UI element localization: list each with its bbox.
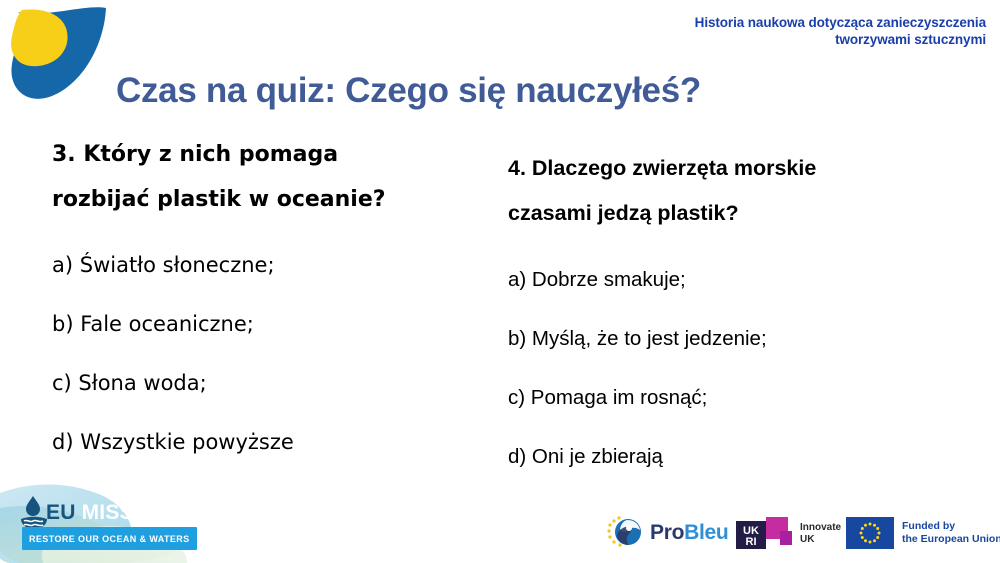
innovate-uk-line2: UK <box>800 534 841 546</box>
innovate-uk-text: Innovate UK <box>800 522 841 546</box>
page-title: Czas na quiz: Czego się nauczyłeś? <box>116 71 701 111</box>
list-item[interactable]: b) Fale oceaniczne; <box>52 295 472 354</box>
list-item[interactable]: d) Oni je zbierają <box>508 427 938 486</box>
innovate-uk-line1: Innovate <box>800 522 841 534</box>
eu-funding-line2: the European Union <box>902 533 1000 546</box>
wave-swoosh-logo <box>6 2 110 106</box>
question-4-options: a) Dobrze smakuje; b) Myślą, że to jest … <box>508 250 938 486</box>
question-column-right: 4. Dlaczego zwierzęta morskie czasami je… <box>508 146 938 486</box>
header-kicker-line1: Historia naukowa dotycząca zanieczyszcze… <box>566 14 986 31</box>
question-column-left: 3. Który z nich pomaga rozbijać plastik … <box>52 132 472 472</box>
question-4-line1: 4. Dlaczego zwierzęta morskie <box>508 146 938 191</box>
question-3-options: a) Światło słoneczne; b) Fale oceaniczne… <box>52 236 472 472</box>
list-item[interactable]: c) Słona woda; <box>52 354 472 413</box>
header-kicker-line2: tworzywami sztucznymi <box>566 31 986 48</box>
question-3-line2: rozbijać plastik w oceanie? <box>52 177 472 222</box>
ukri-innovate-uk-logo: UK RI Innovate UK <box>736 517 846 553</box>
probleu-wordmark: ProBleu <box>650 521 728 545</box>
eu-missions-tagline-bar: RESTORE OUR OCEAN & WATERS <box>22 527 197 550</box>
eu-funding-text: Funded by the European Union <box>902 520 1000 546</box>
probleu-swirl-icon <box>606 515 646 551</box>
eu-missions-eu-text: EU <box>46 501 76 524</box>
list-item[interactable]: a) Światło słoneczne; <box>52 236 472 295</box>
eu-missions-wordmark: EU MISSIONS <box>46 501 186 525</box>
slide-canvas: Historia naukowa dotycząca zanieczyszcze… <box>0 0 1000 563</box>
eu-missions-missions-text: MISSIONS <box>76 501 186 524</box>
list-item[interactable]: b) Myślą, że to jest jedzenie; <box>508 309 938 368</box>
eu-missions-tagline: RESTORE OUR OCEAN & WATERS <box>29 534 190 544</box>
eu-missions-logo: EU MISSIONS RESTORE OUR OCEAN & WATERS <box>0 477 196 563</box>
probleu-bleu-text: Bleu <box>684 521 728 544</box>
probleu-logo: ProBleu <box>606 515 726 555</box>
svg-text:RI: RI <box>746 536 757 548</box>
question-3-line1: 3. Który z nich pomaga <box>52 132 472 177</box>
list-item[interactable]: d) Wszystkie powyższe <box>52 413 472 472</box>
header-kicker: Historia naukowa dotycząca zanieczyszcze… <box>566 14 986 48</box>
water-droplet-icon <box>20 495 48 529</box>
eu-flag-icon <box>846 517 894 549</box>
eu-funding-logo: Funded by the European Union <box>846 517 996 551</box>
question-4-line2: czasami jedzą plastik? <box>508 191 938 236</box>
ukri-mark-icon: UK RI <box>736 517 796 551</box>
list-item[interactable]: a) Dobrze smakuje; <box>508 250 938 309</box>
footer-logo-strip: ProBleu UK RI Innovate UK <box>600 507 990 557</box>
probleu-pro-text: Pro <box>650 521 684 544</box>
eu-funding-line1: Funded by <box>902 520 1000 533</box>
list-item[interactable]: c) Pomaga im rosnąć; <box>508 368 938 427</box>
